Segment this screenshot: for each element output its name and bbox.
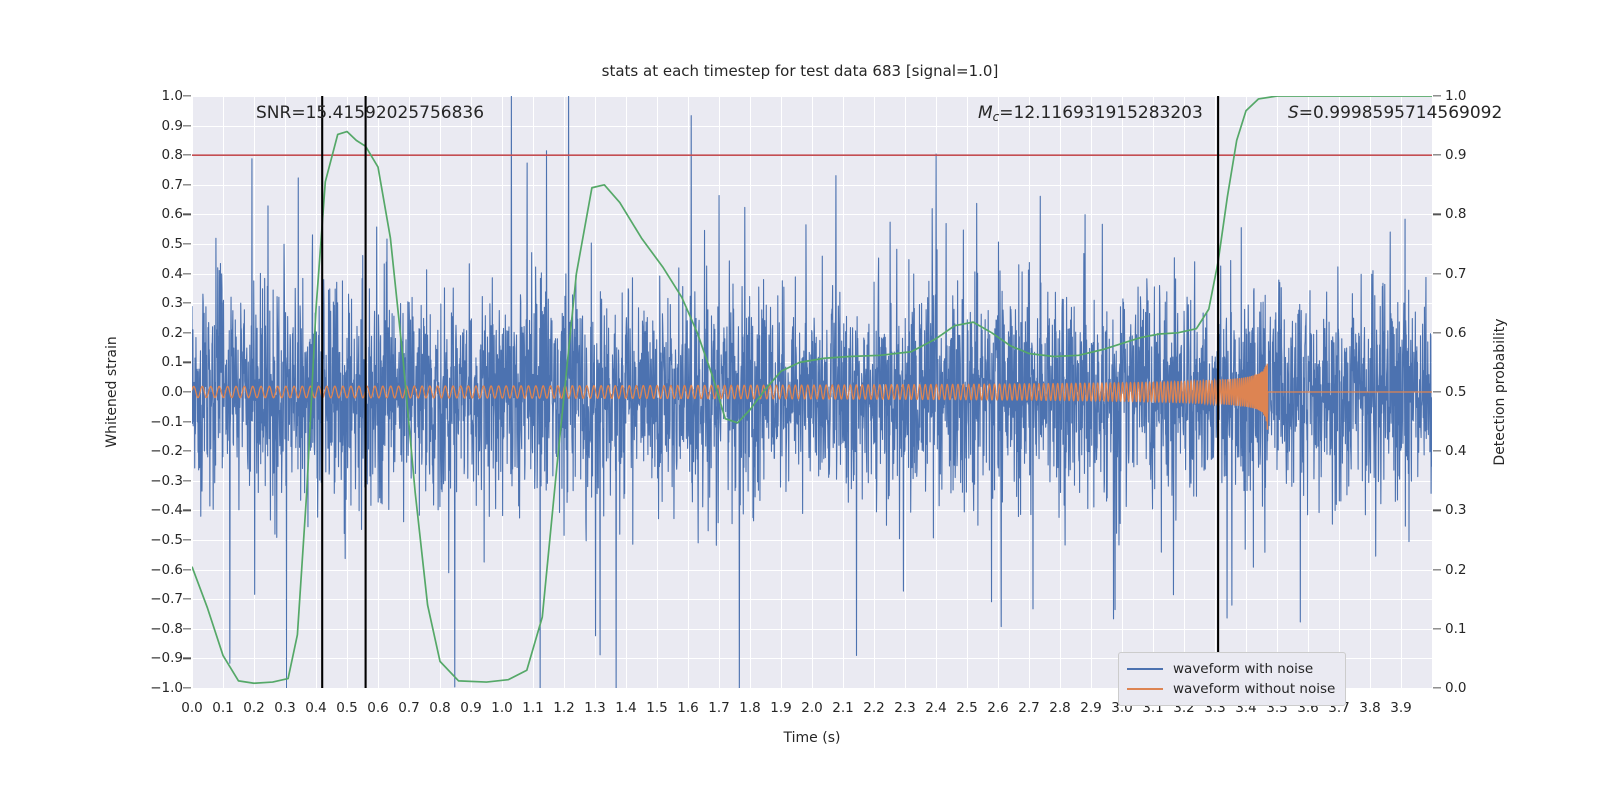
y-axis-right-tick-mark [1433, 391, 1441, 392]
x-axis-tick-label: 3.9 [1390, 700, 1411, 716]
x-axis-tick-label: 2.7 [1018, 700, 1039, 716]
y-axis-left-tick-mark [183, 184, 191, 185]
x-axis-tick-label: 2.2 [863, 700, 884, 716]
chirp-mass-value: =12.116931915283203 [999, 103, 1203, 123]
y-axis-right-tick-mark [1433, 628, 1441, 629]
y-axis-right-tick-label: 0.3 [1445, 502, 1466, 518]
y-axis-left-tick-mark [183, 391, 191, 392]
chirp-mass-annotation: Mc=12.116931915283203 [978, 103, 1203, 124]
x-axis-tick-label: 2.5 [956, 700, 977, 716]
x-axis-tick-label: 1.3 [584, 700, 605, 716]
y-axis-left-tick-mark [183, 658, 191, 659]
snr-annotation: SNR=15.41592025756836 [256, 103, 484, 123]
x-axis-tick-label: 1.1 [522, 700, 543, 716]
x-axis-tick-label: 0.0 [181, 700, 202, 716]
y-axis-left-label: Whitened strain [104, 336, 120, 447]
x-axis-tick-label: 2.9 [1080, 700, 1101, 716]
x-axis-tick-label: 1.9 [770, 700, 791, 716]
y-axis-right-tick-mark [1433, 95, 1441, 96]
y-axis-right-tick-label: 0.4 [1445, 443, 1466, 459]
x-axis-tick-label: 0.3 [274, 700, 295, 716]
y-axis-right-tick-mark [1433, 332, 1441, 333]
y-axis-left-tick-mark [183, 569, 191, 570]
y-axis-left-tick-mark [183, 273, 191, 274]
x-axis-tick-label: 0.4 [305, 700, 326, 716]
y-axis-right-tick-mark [1433, 569, 1441, 570]
y-axis-left-tick-mark [183, 539, 191, 540]
x-axis-tick-label: 2.8 [1049, 700, 1070, 716]
x-axis-tick-label: 0.2 [243, 700, 264, 716]
x-axis-tick-label: 1.7 [708, 700, 729, 716]
y-axis-left-tick-mark [183, 332, 191, 333]
x-axis-tick-label: 1.0 [491, 700, 512, 716]
y-axis-right-tick-label: 0.2 [1445, 562, 1466, 578]
y-axis-right-tick-label: 0.1 [1445, 621, 1466, 637]
figure-canvas: stats at each timestep for test data 683… [0, 0, 1600, 800]
y-axis-right-tick-mark [1433, 273, 1441, 274]
score-annotation: S=0.9998595714569092 [1288, 103, 1502, 123]
y-axis-left-tick-mark [183, 243, 191, 244]
legend-swatch-without-noise [1127, 688, 1163, 690]
y-axis-left-tick-mark [183, 95, 191, 96]
legend: waveform with noise waveform without noi… [1118, 652, 1346, 706]
x-axis-tick-label: 1.4 [615, 700, 636, 716]
y-axis-left-tick-mark [183, 451, 191, 452]
x-axis-tick-label: 0.9 [460, 700, 481, 716]
y-axis-right-tick-mark [1433, 451, 1441, 452]
x-axis-tick-label: 1.2 [553, 700, 574, 716]
legend-label-with-noise: waveform with noise [1173, 661, 1313, 677]
y-axis-left-tick-mark [183, 362, 191, 363]
y-axis-right-tick-label: 1.0 [1445, 88, 1466, 104]
y-axis-right-tick-mark [1433, 510, 1441, 511]
y-axis-left-tick-mark [183, 687, 191, 688]
y-axis-right-tick-mark [1433, 687, 1441, 688]
x-axis-tick-label: 2.1 [832, 700, 853, 716]
x-axis-tick-label: 0.8 [429, 700, 450, 716]
y-axis-right-tick-label: 0.6 [1445, 325, 1466, 341]
legend-item-without-noise: waveform without noise [1127, 679, 1335, 699]
y-axis-left-tick-mark [183, 125, 191, 126]
x-axis-tick-label: 2.0 [801, 700, 822, 716]
y-axis-right-label: Detection probability [1492, 318, 1508, 465]
x-axis-tick-label: 2.4 [925, 700, 946, 716]
x-axis-tick-label: 0.6 [367, 700, 388, 716]
y-axis-left-tick-mark [183, 599, 191, 600]
x-axis-tick-label: 2.3 [894, 700, 915, 716]
y-axis-left-tick-mark [183, 214, 191, 215]
x-axis-tick-label: 0.1 [212, 700, 233, 716]
x-axis-tick-label: 3.8 [1359, 700, 1380, 716]
y-axis-right-tick-label: 0.7 [1445, 266, 1466, 282]
score-symbol: S [1288, 103, 1299, 123]
x-axis-label: Time (s) [192, 730, 1432, 746]
y-axis-left-tick-mark [183, 480, 191, 481]
y-axis-left-tick-mark [183, 421, 191, 422]
y-axis-right-tick-mark [1433, 214, 1441, 215]
x-axis-tick-label: 1.8 [739, 700, 760, 716]
y-axis-right-tick-label: 0.0 [1445, 680, 1466, 696]
x-axis-tick-label: 1.5 [646, 700, 667, 716]
plot-area [192, 96, 1432, 688]
y-axis-left-tick-mark [183, 628, 191, 629]
score-value: =0.9998595714569092 [1299, 103, 1503, 123]
y-axis-right-tick-label: 0.9 [1445, 147, 1466, 163]
chart-title: stats at each timestep for test data 683… [0, 62, 1600, 80]
legend-swatch-with-noise [1127, 668, 1163, 670]
y-axis-right-tick-label: 0.5 [1445, 384, 1466, 400]
x-axis-tick-label: 2.6 [987, 700, 1008, 716]
y-axis-right-tick-mark [1433, 155, 1441, 156]
y-axis-left-tick-mark [183, 510, 191, 511]
x-axis-tick-label: 1.6 [677, 700, 698, 716]
legend-label-without-noise: waveform without noise [1173, 681, 1335, 697]
y-axis-left-tick-mark [183, 303, 191, 304]
y-axis-left-tick-mark [183, 155, 191, 156]
x-axis-tick-label: 0.7 [398, 700, 419, 716]
chirp-mass-symbol: M [978, 103, 993, 123]
waveform-plot [192, 96, 1432, 688]
y-axis-right-tick-label: 0.8 [1445, 206, 1466, 222]
legend-item-with-noise: waveform with noise [1127, 659, 1335, 679]
x-axis-tick-label: 0.5 [336, 700, 357, 716]
